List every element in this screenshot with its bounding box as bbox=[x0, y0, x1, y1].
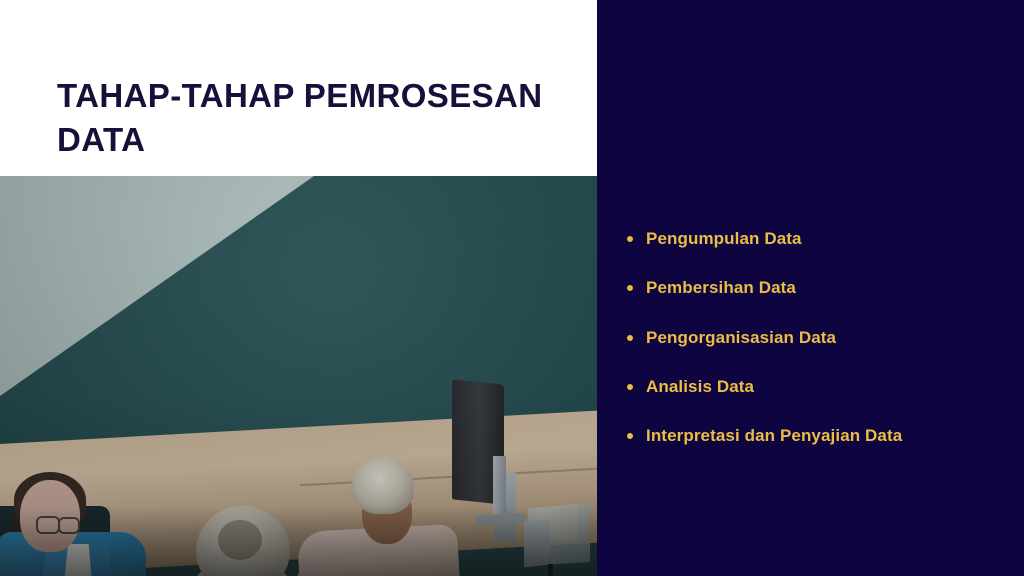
list-item: Pembersihan Data bbox=[627, 277, 1015, 298]
left-column: TAHAP-TAHAP PEMROSESAN DATA bbox=[0, 0, 597, 576]
title-block: TAHAP-TAHAP PEMROSESAN DATA bbox=[57, 74, 577, 161]
bullet-dot-icon bbox=[627, 433, 633, 439]
list-item: Interpretasi dan Penyajian Data bbox=[627, 425, 1015, 446]
bullet-dot-icon bbox=[627, 236, 633, 242]
right-panel: Pengumpulan Data Pembersihan Data Pengor… bbox=[597, 0, 1024, 576]
list-item-label: Analisis Data bbox=[646, 376, 754, 397]
list-item: Pengorganisasian Data bbox=[627, 327, 1015, 348]
page-title: TAHAP-TAHAP PEMROSESAN DATA bbox=[57, 74, 577, 161]
meeting-photo bbox=[0, 176, 597, 576]
slide-canvas: TAHAP-TAHAP PEMROSESAN DATA bbox=[0, 0, 1024, 576]
list-item-label: Interpretasi dan Penyajian Data bbox=[646, 425, 902, 446]
bullet-dot-icon bbox=[627, 335, 633, 341]
list-item: Pengumpulan Data bbox=[627, 228, 1015, 249]
bullet-dot-icon bbox=[627, 384, 633, 390]
bullet-dot-icon bbox=[627, 285, 633, 291]
list-item-label: Pengorganisasian Data bbox=[646, 327, 836, 348]
desk-shadow bbox=[0, 506, 597, 576]
list-item-label: Pengumpulan Data bbox=[646, 228, 802, 249]
list-item: Analisis Data bbox=[627, 376, 1015, 397]
list-item-label: Pembersihan Data bbox=[646, 277, 796, 298]
process-step-list: Pengumpulan Data Pembersihan Data Pengor… bbox=[627, 228, 1015, 446]
